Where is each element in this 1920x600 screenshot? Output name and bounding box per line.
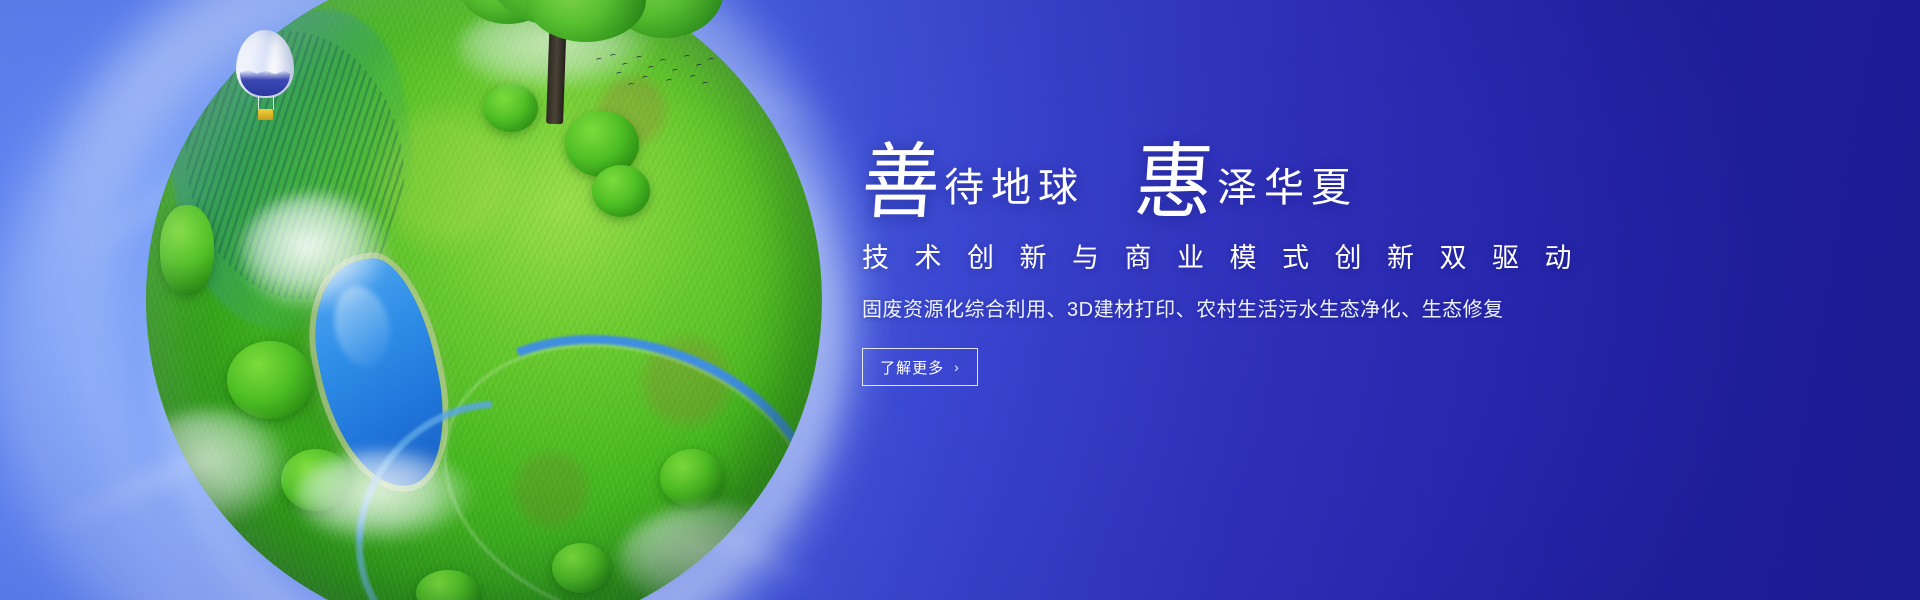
hero-banner: 善 待地球 惠 泽华夏 技 术 创 新 与 商 业 模 式 创 新 双 驱 动 …	[0, 0, 1920, 600]
balloon-ropes	[258, 96, 274, 110]
tree-canopy	[227, 341, 313, 419]
bird-flock-icon	[592, 52, 722, 92]
tree-canopy	[552, 543, 610, 593]
learn-more-label: 了解更多	[880, 357, 944, 378]
headline-phrase-one: 待地球	[944, 168, 1085, 220]
headline-char-shan: 善	[859, 146, 942, 222]
hero-subtitle: 技 术 创 新 与 商 业 模 式 创 新 双 驱 动	[862, 236, 1662, 275]
hero-content: 善 待地球 惠 泽华夏 技 术 创 新 与 商 业 模 式 创 新 双 驱 动 …	[862, 128, 1662, 386]
hot-air-balloon-icon	[236, 30, 294, 126]
headline-char-hui: 惠	[1132, 146, 1215, 222]
tree-canopy	[526, 0, 646, 42]
chevron-right-icon: ›	[954, 360, 960, 374]
hero-tagline: 固废资源化综合利用、3D建材打印、农村生活污水生态净化、生态修复	[862, 293, 1662, 322]
cloud-patch	[295, 449, 475, 545]
balloon-basket	[258, 109, 273, 120]
tree-canopy	[160, 205, 214, 295]
cloud-patch	[241, 192, 391, 312]
learn-more-button[interactable]: 了解更多 ›	[862, 348, 978, 386]
tree-canopy	[660, 449, 724, 507]
headline-phrase-two: 泽华夏	[1217, 168, 1358, 220]
page-title: 善 待地球 惠 泽华夏	[862, 128, 1662, 220]
tree-canopy	[592, 165, 650, 217]
